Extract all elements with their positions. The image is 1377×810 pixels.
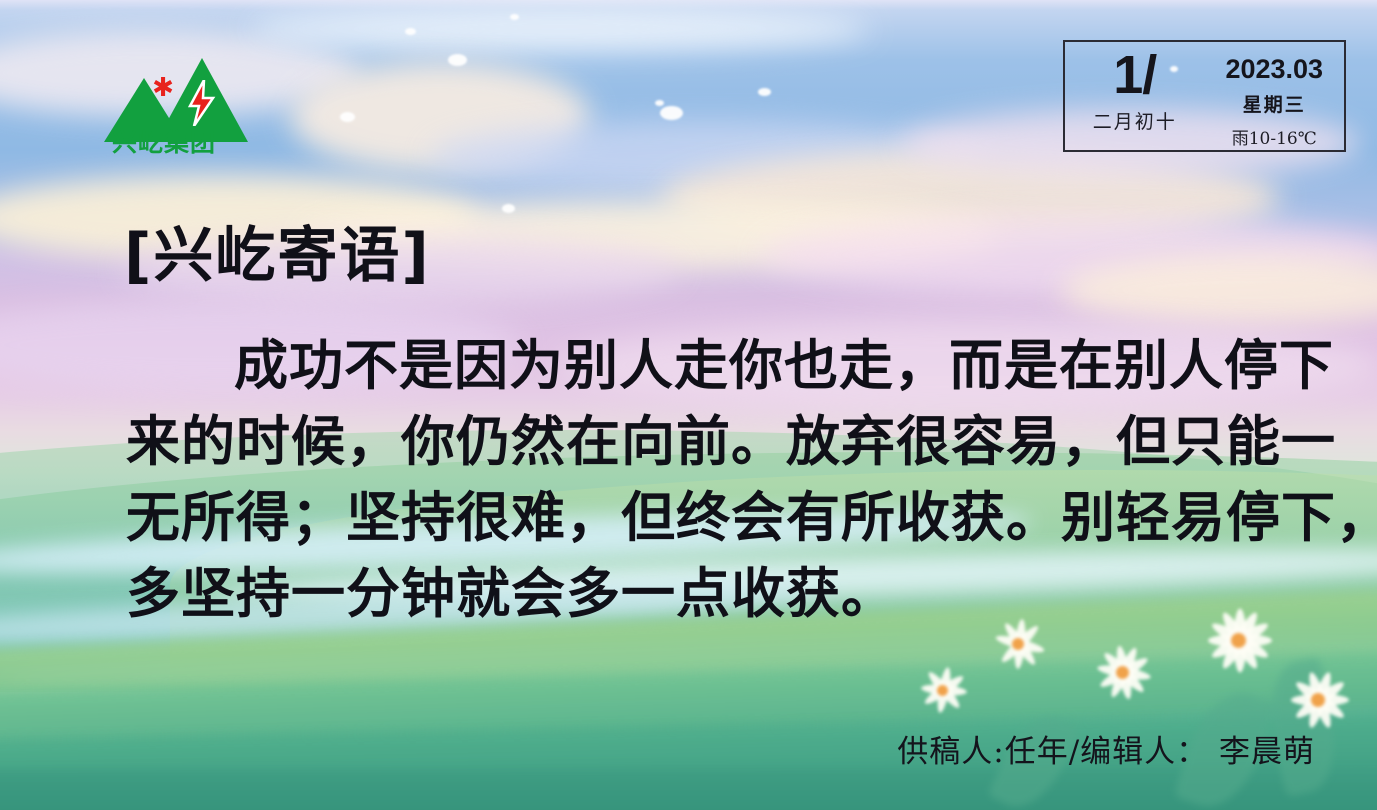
date-weekday: 星期三: [1243, 90, 1306, 117]
quote-line: 无所得；坚持很难，但终会有所收获。别轻易停下，: [126, 480, 1256, 556]
date-card-left: 1/ 二月初十: [1065, 42, 1205, 150]
date-lunar: 二月初十: [1093, 107, 1177, 134]
date-weather: 雨10-16℃: [1232, 124, 1317, 149]
date-day: 1/: [1113, 48, 1156, 102]
date-card-right: 2023.03 星期三 雨10-16℃: [1205, 42, 1345, 150]
quote-line: 多坚持一分钟就会多一点收获。: [126, 556, 1256, 632]
logo-wordmark: 兴屹集团: [98, 130, 230, 156]
poster-canvas: ✱ 兴屹集团 1/ 二月初十 2023.03 星期三 雨10-16℃ [兴屹寄语…: [0, 0, 1377, 810]
date-card: 1/ 二月初十 2023.03 星期三 雨10-16℃: [1063, 40, 1346, 152]
credit-line: 供稿人:任年/编辑人： 李晨萌: [897, 726, 1315, 771]
date-year-month: 2023.03: [1225, 54, 1323, 85]
page-title: [兴屹寄语]: [124, 222, 431, 290]
quote-body: 成功不是因为别人走你也走，而是在别人停下 来的时候，你仍然在向前。放弃很容易，但…: [126, 328, 1256, 632]
quote-line: 成功不是因为别人走你也走，而是在别人停下: [126, 328, 1256, 404]
red-star-icon: ✱: [150, 74, 176, 100]
quote-line: 来的时候，你仍然在向前。放弃很容易，但只能一: [126, 404, 1256, 480]
company-logo: ✱ 兴屹集团: [98, 36, 230, 154]
lightning-bolt-icon: [186, 80, 216, 126]
